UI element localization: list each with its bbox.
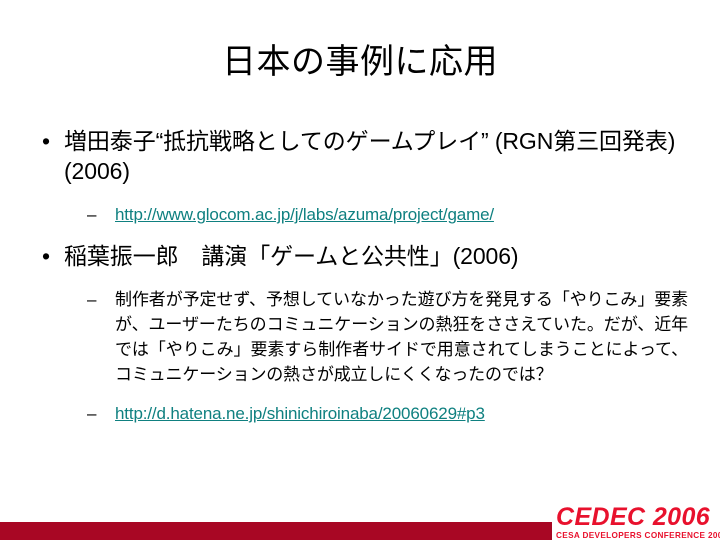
cedec-logo-title: CEDEC 2006 <box>556 505 720 530</box>
bullet-item-1: • 増田泰子“抵抗戦略としてのゲームプレイ” (RGN第三回発表)(2006) <box>30 126 690 186</box>
footer-accent-bar <box>0 522 552 540</box>
spacer <box>30 387 690 397</box>
sub-item-2-1: – 制作者が予定せず、予想していなかった遊び方を発見する「やりこみ」要素が、ユー… <box>30 287 690 387</box>
bullet-text-1: 増田泰子“抵抗戦略としてのゲームプレイ” (RGN第三回発表)(2006) <box>64 126 690 186</box>
sub-item-1-1: – http://www.glocom.ac.jp/j/labs/azuma/p… <box>30 202 690 227</box>
link-glocom[interactable]: http://www.glocom.ac.jp/j/labs/azuma/pro… <box>115 202 690 227</box>
spacer <box>30 227 690 241</box>
bullet-marker-icon: • <box>30 241 64 271</box>
dash-marker-icon: – <box>30 287 115 312</box>
sub-item-2-2: – http://d.hatena.ne.jp/shinichiroinaba/… <box>30 401 690 426</box>
link-hatena[interactable]: http://d.hatena.ne.jp/shinichiroinaba/20… <box>115 401 690 426</box>
slide-canvas: 日本の事例に応用 • 増田泰子“抵抗戦略としてのゲームプレイ” (RGN第三回発… <box>0 0 720 540</box>
bullet-marker-icon: • <box>30 126 64 156</box>
bullet-text-2: 稲葉振一郎 講演「ゲームと公共性」(2006) <box>64 241 690 271</box>
cedec-logo: CEDEC 2006 CESA DEVELOPERS CONFERENCE 20… <box>556 505 720 540</box>
spacer <box>30 273 690 283</box>
spacer <box>30 188 690 198</box>
dash-marker-icon: – <box>30 401 115 426</box>
bullet-item-2: • 稲葉振一郎 講演「ゲームと公共性」(2006) <box>30 241 690 271</box>
dash-marker-icon: – <box>30 202 115 227</box>
slide-body: • 増田泰子“抵抗戦略としてのゲームプレイ” (RGN第三回発表)(2006) … <box>30 126 690 426</box>
page-title: 日本の事例に応用 <box>0 40 720 84</box>
quote-paragraph: 制作者が予定せず、予想していなかった遊び方を発見する「やりこみ」要素が、ユーザー… <box>115 287 690 387</box>
